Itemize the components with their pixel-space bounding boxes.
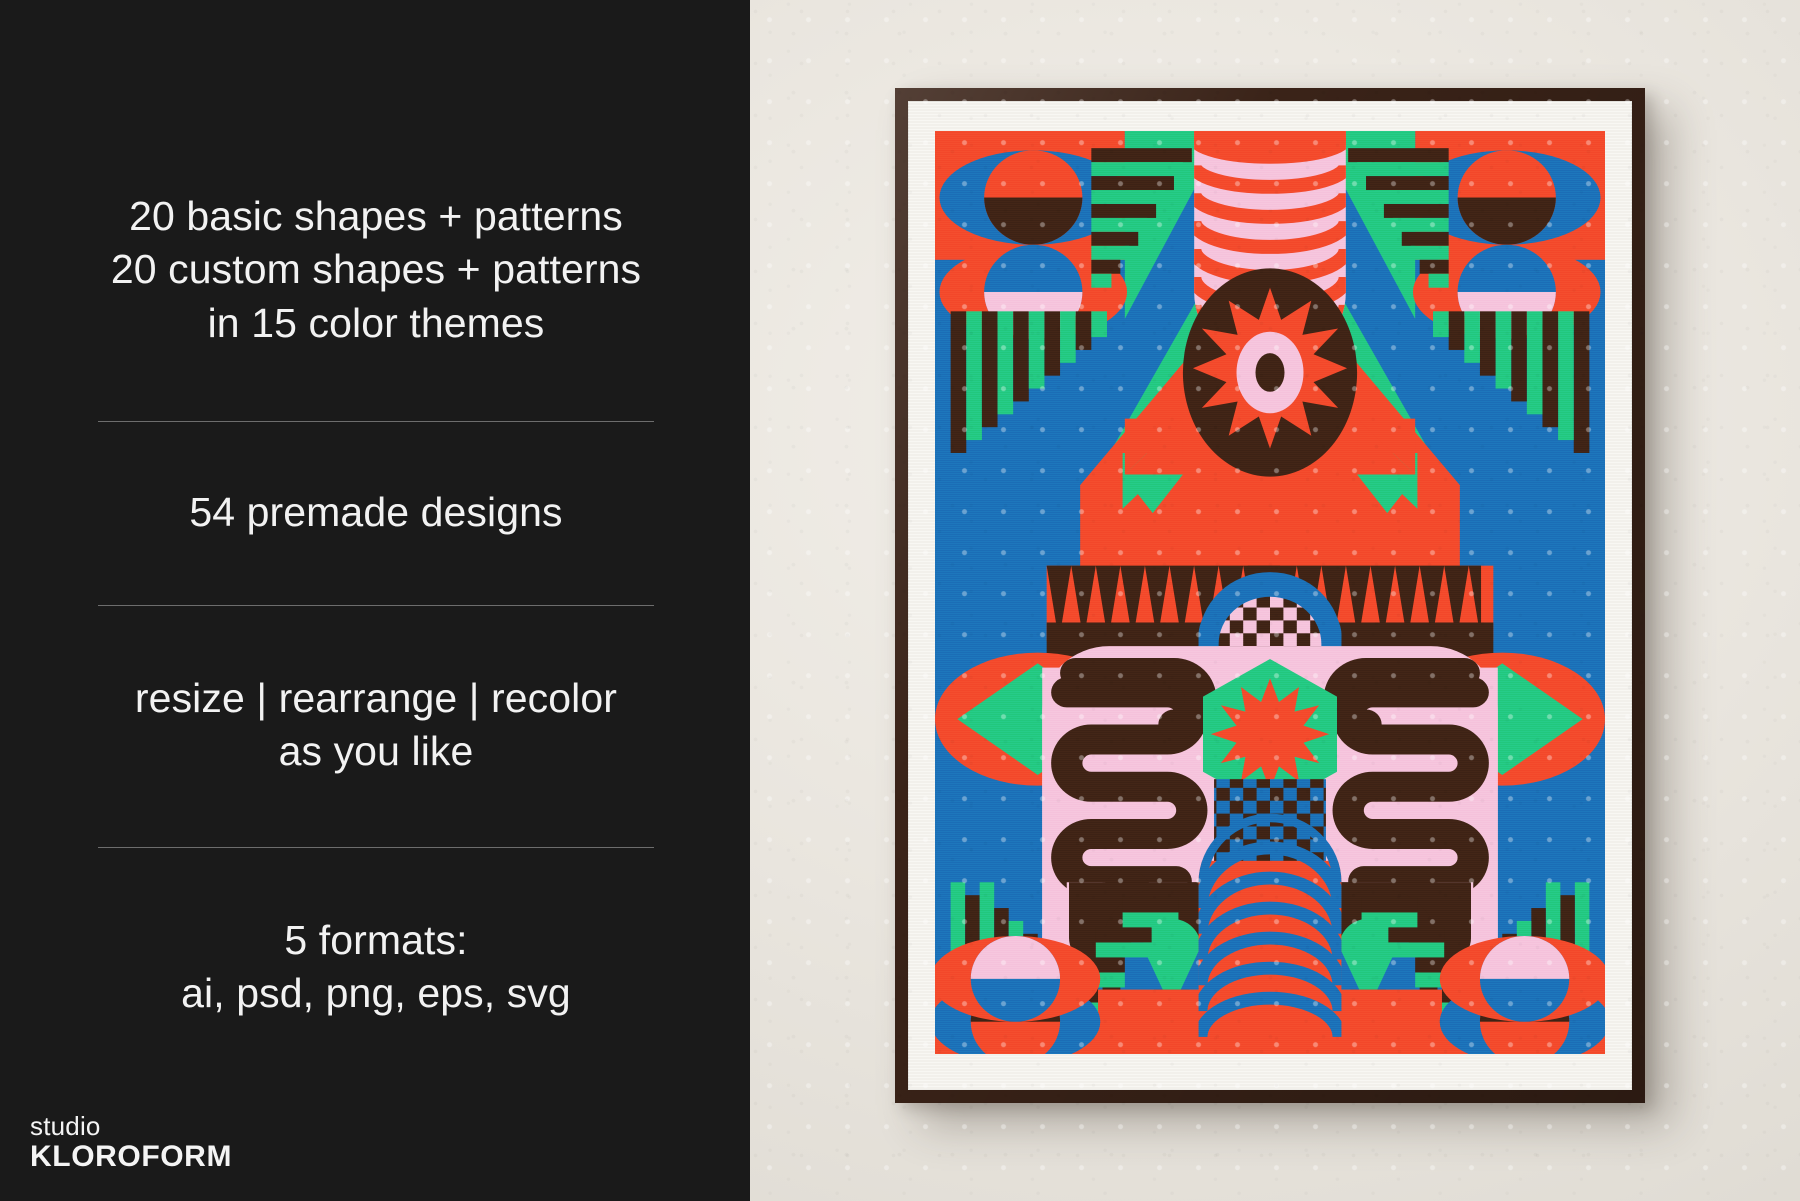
artwork-layers xyxy=(935,131,1605,1054)
poster-svg xyxy=(935,131,1605,1054)
brand-studio-text: studio xyxy=(30,1112,232,1140)
feature-block-premade: 54 premade designs xyxy=(98,486,654,539)
feature-line: 5 formats: xyxy=(98,914,654,967)
frame-mat xyxy=(908,101,1632,1090)
wall-background xyxy=(750,0,1800,1201)
feature-line: as you like xyxy=(98,725,654,778)
feature-block-shapes: 20 basic shapes + patterns 20 custom sha… xyxy=(98,190,654,350)
top-sun-medallion xyxy=(1183,268,1357,476)
feature-block-formats: 5 formats: ai, psd, png, eps, svg xyxy=(98,914,654,1021)
feature-block-editing: resize | rearrange | recolor as you like xyxy=(98,672,654,779)
info-panel: 20 basic shapes + patterns 20 custom sha… xyxy=(0,0,750,1201)
feature-line: in 15 color themes xyxy=(98,297,654,350)
feature-list: 20 basic shapes + patterns 20 custom sha… xyxy=(98,190,654,1020)
picture-frame xyxy=(895,88,1645,1103)
feature-line: 54 premade designs xyxy=(98,486,654,539)
corner-motif-bottom-right xyxy=(1440,936,1605,1054)
feature-line: 20 custom shapes + patterns xyxy=(98,243,654,296)
poster-artwork xyxy=(935,131,1605,1054)
feature-line: 20 basic shapes + patterns xyxy=(98,190,654,243)
brand-logo: studio KLOROFORM xyxy=(30,1112,232,1173)
feature-line: resize | rearrange | recolor xyxy=(98,672,654,725)
corner-motif-bottom-left xyxy=(935,936,1100,1054)
feature-line: ai, psd, png, eps, svg xyxy=(98,967,654,1020)
brand-name-text: KLOROFORM xyxy=(30,1140,232,1173)
